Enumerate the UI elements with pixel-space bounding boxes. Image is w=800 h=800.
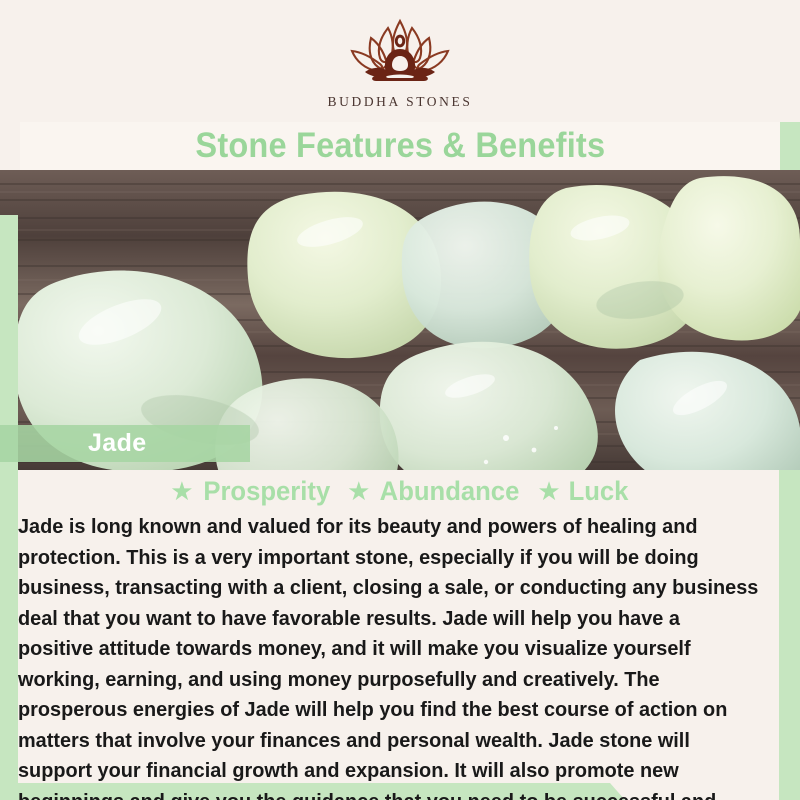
frame-left-band — [0, 215, 18, 800]
benefit-label: Prosperity — [203, 476, 330, 507]
infographic-card: BUDDHA STONES Stone Features & Benefits — [0, 0, 800, 800]
page-title: Stone Features & Benefits — [195, 126, 605, 166]
benefits-row: ★ Prosperity ★ Abundance ★ Luck — [0, 476, 800, 507]
title-banner: Stone Features & Benefits — [20, 122, 780, 170]
benefit-item: ★ Luck — [537, 476, 629, 507]
star-icon: ★ — [537, 478, 560, 504]
brand-name: BUDDHA STONES — [325, 94, 475, 110]
benefit-item: ★ Prosperity — [170, 476, 333, 507]
benefit-label: Luck — [568, 476, 628, 507]
benefit-label: Abundance — [380, 476, 520, 507]
star-icon: ★ — [170, 478, 193, 504]
brand-header: BUDDHA STONES — [0, 0, 800, 122]
benefit-item: ★ Abundance — [347, 476, 523, 507]
star-icon: ★ — [347, 478, 370, 504]
stone-name-band: Jade — [0, 425, 250, 462]
stone-name: Jade — [88, 429, 147, 458]
lotus-meditation-icon — [325, 16, 475, 93]
stone-description: Jade is long known and valued for its be… — [18, 512, 759, 800]
